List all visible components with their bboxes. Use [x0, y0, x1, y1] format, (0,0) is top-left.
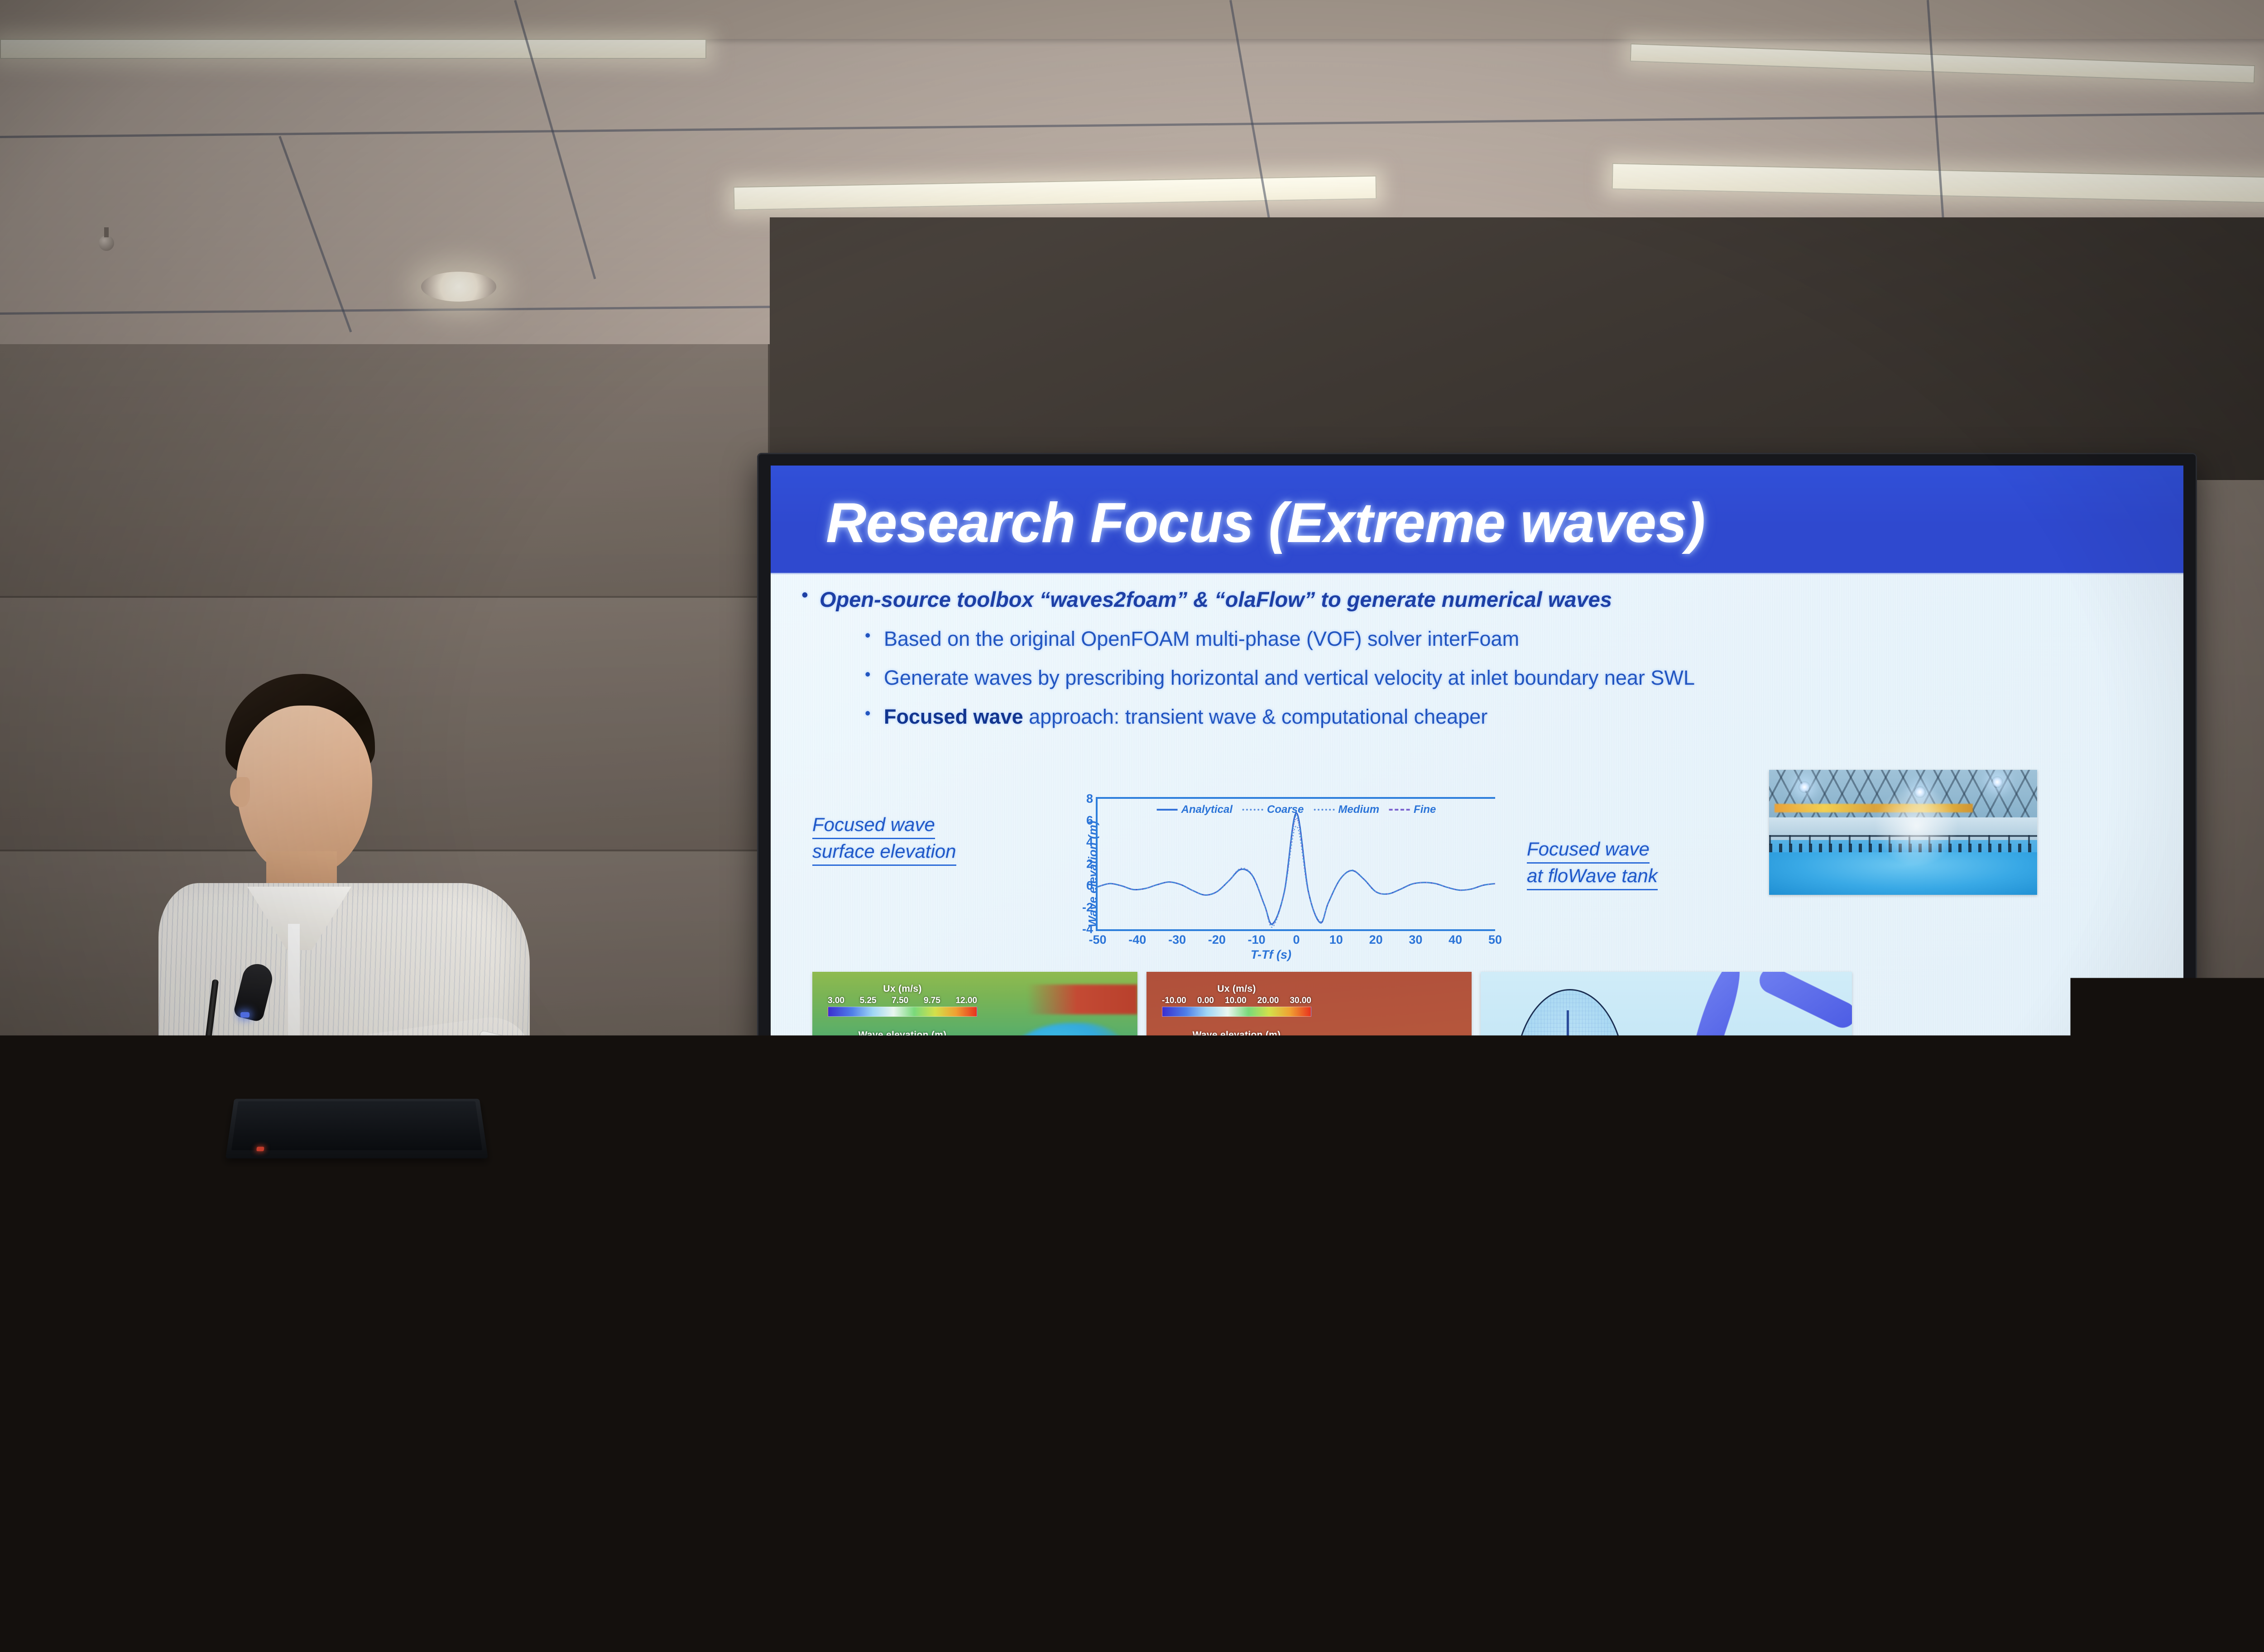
colorbar-tick: 20.00 — [1257, 996, 1279, 1006]
wall-panel — [0, 344, 770, 598]
ceiling-rail — [278, 136, 352, 332]
colorbar-ux: Ux (m/s) -10.00 0.00 10.00 20.00 30.00 — [1162, 984, 1311, 1017]
ami-platform-base — [1556, 1068, 1580, 1085]
ceiling-rail — [0, 110, 2264, 138]
colorbar-tick: -1.00 — [1196, 1042, 1216, 1052]
chart-y-tick: 8 — [1086, 792, 1093, 806]
colorbar-title: Ux (m/s) — [1162, 984, 1311, 994]
colorbar-ticks: -10.00 0.00 10.00 20.00 30.00 — [1162, 996, 1311, 1006]
colorbar-tick: 30.00 — [1290, 996, 1311, 1006]
colorbar-gradient — [828, 1007, 977, 1017]
wave-elevation-chart: Wave elevation (m) T-Tf (s) Analytical C… — [1042, 785, 1500, 963]
cfd-high-velocity-band — [1027, 984, 1137, 1014]
ceiling-light-strip — [734, 176, 1377, 211]
flowave-tank-photo — [1769, 770, 2037, 895]
cfd-turbine-silhouette — [1001, 1057, 1005, 1151]
colorbar-title: Wave elevation (m) — [828, 1030, 977, 1041]
colorbar-tick: 10.00 — [1225, 996, 1247, 1006]
slide-number: 15 — [2137, 1263, 2163, 1289]
tank-lamp-icon — [1799, 781, 1810, 793]
colorbar-tick: 9.75 — [924, 996, 940, 1006]
chart-series-medium — [1098, 818, 1495, 925]
sprinkler-icon — [99, 235, 114, 251]
display-brand-logo — [2122, 1311, 2163, 1321]
university-emblem: SCHOOL OF NAVAL ARCHITECTURE & OCEAN ENG… — [250, 1392, 504, 1646]
page-title: Research Focus (Extreme waves) — [826, 491, 1705, 555]
bullet-level1: Open-source toolbox “waves2foam” & “olaF… — [820, 587, 2183, 612]
colorbar-tick: 5.25 — [860, 996, 877, 1006]
colorbar-tick: 12.00 — [955, 996, 977, 1006]
podium-desktop — [121, 1153, 629, 1206]
display-screen: Research Focus (Extreme waves) Open-sour… — [771, 466, 2183, 1299]
chart-x-tick: -10 — [1248, 933, 1266, 947]
annotation-focused-wave-surface-elevation: Focused wave surface elevation — [812, 812, 956, 866]
chart-x-tick: 50 — [1488, 933, 1502, 947]
chart-x-tick: 20 — [1369, 933, 1383, 947]
conference-room-scene: Research Focus (Extreme waves) Open-sour… — [0, 0, 2264, 1652]
colorbar-wave-elevation: Wave elevation (m) -4.00 -1.00 2.00 5.00… — [1162, 1030, 1311, 1063]
chart-y-tick: 6 — [1086, 814, 1093, 828]
reference-item: [1] Zhou, Y., Xiao, Q., Liu, Y., Incecik… — [796, 1231, 2055, 1247]
chart-y-tick: 0 — [1086, 879, 1093, 893]
ceiling-light-strip — [1612, 163, 2264, 207]
colorbar-title: Wave elevation (m) — [1162, 1030, 1311, 1041]
presentation-display[interactable]: Research Focus (Extreme waves) Open-sour… — [757, 453, 2197, 1327]
colorbar-tick: 0.00 — [1197, 996, 1214, 1006]
microphone-led-indicator — [240, 1012, 249, 1018]
caption-animation: Animation of FOWT under rated/extreme SS… — [824, 1199, 1409, 1220]
ceiling-downlight — [421, 272, 496, 302]
laptop-screen — [231, 1101, 482, 1150]
cfd-water-region — [812, 1138, 1137, 1185]
bullet-level2: Generate waves by prescribing horizontal… — [884, 666, 2183, 690]
chart-y-tick: -2 — [1082, 901, 1093, 915]
colorbar-tick: 2.50 — [929, 1042, 945, 1052]
colorbar-tick: 8.00 — [1295, 1042, 1311, 1052]
colorbar-title: Ux (m/s) — [828, 984, 977, 994]
annotation-line-1: Focused wave — [1527, 837, 1650, 864]
colorbar-gradient — [1162, 1053, 1311, 1063]
colorbar-tick: -4.00 — [1162, 1042, 1181, 1052]
ami-mesh-sketch — [1481, 972, 1852, 1185]
chart-x-tick: -20 — [1208, 933, 1226, 947]
colorbar-gradient — [828, 1053, 977, 1063]
colorbar-gradient — [1162, 1007, 1311, 1017]
annotation-line-2: surface elevation — [812, 839, 956, 866]
bullet-bold-prefix: Focused wave — [884, 705, 1023, 728]
chart-series-analytical — [1098, 813, 1495, 924]
colorbar-tick: 2.00 — [1231, 1042, 1248, 1052]
turbine-nacelle — [1744, 1066, 1798, 1103]
bullet-level2: Based on the original OpenFOAM multi-pha… — [884, 627, 2183, 651]
chart-x-tick: -40 — [1128, 933, 1146, 947]
colorbar-tick: 5.00 — [1263, 1042, 1280, 1052]
chart-x-tick: 40 — [1449, 933, 1462, 947]
annotation-focused-wave-flowave-tank: Focused wave at floWave tank — [1527, 837, 1658, 890]
cfd-water-region — [1146, 1138, 1472, 1185]
colorbar-tick: -10.00 — [1162, 996, 1186, 1006]
reference-item: [2] Zhou, Y., Xiao, Q., Peyrard, C., & P… — [796, 1247, 2055, 1263]
colorbar-wave-elevation: Wave elevation (m) -2.00 -0.50 1.00 2.50… — [828, 1030, 977, 1063]
chart-x-axis-label: T-Tf (s) — [1042, 948, 1500, 962]
colorbar-tick: -0.50 — [862, 1042, 882, 1052]
cfd-turbine-silhouette — [1342, 1057, 1346, 1151]
wall-upper-dark-band — [770, 217, 2264, 480]
tank-foam — [1871, 783, 1962, 870]
turbine-blade — [1755, 972, 1852, 1032]
colorbar-ticks: -2.00 -0.50 1.00 2.50 4.00 — [828, 1042, 977, 1052]
bullet-rest: approach: transient wave & computational… — [1023, 705, 1488, 728]
colorbar-tick: 1.00 — [897, 1042, 914, 1052]
bullet-level2-focused-wave: Focused wave approach: transient wave & … — [884, 705, 2183, 729]
chart-y-tick: 2 — [1086, 857, 1093, 871]
presenter-ear — [230, 777, 250, 807]
chart-plot-area: Analytical Coarse Medium Fine -4-202468 … — [1096, 797, 1495, 931]
chart-x-tick: -30 — [1168, 933, 1186, 947]
chart-x-tick: 10 — [1329, 933, 1343, 947]
cfd-panel-extreme: Ux (m/s) -10.00 0.00 10.00 20.00 30.00 W… — [1146, 972, 1472, 1185]
caption-ami-mesh: Sketch of the AMI mesh: mesh size around… — [1549, 1195, 1923, 1216]
presenter-head — [236, 706, 372, 874]
colorbar-tick: 7.50 — [892, 996, 908, 1006]
colorbar-ticks: 3.00 5.25 7.50 9.75 12.00 — [828, 996, 977, 1006]
annotation-line-1: Focused wave — [812, 812, 935, 839]
slide: Research Focus (Extreme waves) Open-sour… — [771, 466, 2183, 1299]
chart-y-tick: 4 — [1086, 836, 1093, 850]
colorbar-ticks: -4.00 -1.00 2.00 5.00 8.00 — [1162, 1042, 1311, 1052]
colorbar-tick: -2.00 — [828, 1042, 847, 1052]
cfd-platform — [1329, 1142, 1379, 1167]
ceiling-light-strip — [0, 39, 706, 59]
display-bezel-bottom — [757, 1299, 2197, 1327]
cfd-platform — [988, 1142, 1039, 1167]
emblem-chinese-characters: 船舶学院 — [250, 1392, 504, 1646]
chart-series-fine — [1098, 815, 1495, 925]
slide-bullet-list: Open-source toolbox “waves2foam” & “olaF… — [771, 578, 2183, 729]
colorbar-tick: 4.00 — [960, 1042, 977, 1052]
chart-series-coarse — [1098, 826, 1495, 927]
annotation-line-2: at floWave tank — [1527, 864, 1658, 890]
references-block: [1] Zhou, Y., Xiao, Q., Liu, Y., Incecik… — [796, 1231, 2055, 1263]
ceiling-light-strip — [1630, 43, 2255, 83]
tank-lamp-icon — [1991, 776, 2003, 788]
ami-mast — [1567, 1010, 1569, 1074]
colorbar-ux: Ux (m/s) 3.00 5.25 7.50 9.75 12.00 — [828, 984, 977, 1017]
ceiling-beam — [0, 0, 2264, 39]
chart-x-tick: 30 — [1409, 933, 1422, 947]
cfd-panel-rated: Ux (m/s) 3.00 5.25 7.50 9.75 12.00 Wave … — [812, 972, 1137, 1185]
chart-series-svg — [1098, 799, 1495, 929]
colorbar-tick: 3.00 — [828, 996, 844, 1006]
presenter-laptop[interactable] — [225, 1099, 488, 1158]
chart-x-tick: -50 — [1089, 933, 1106, 947]
chart-x-tick: 0 — [1293, 933, 1300, 947]
laptop-power-led — [256, 1147, 264, 1151]
presenter-hand-right — [532, 1063, 602, 1128]
